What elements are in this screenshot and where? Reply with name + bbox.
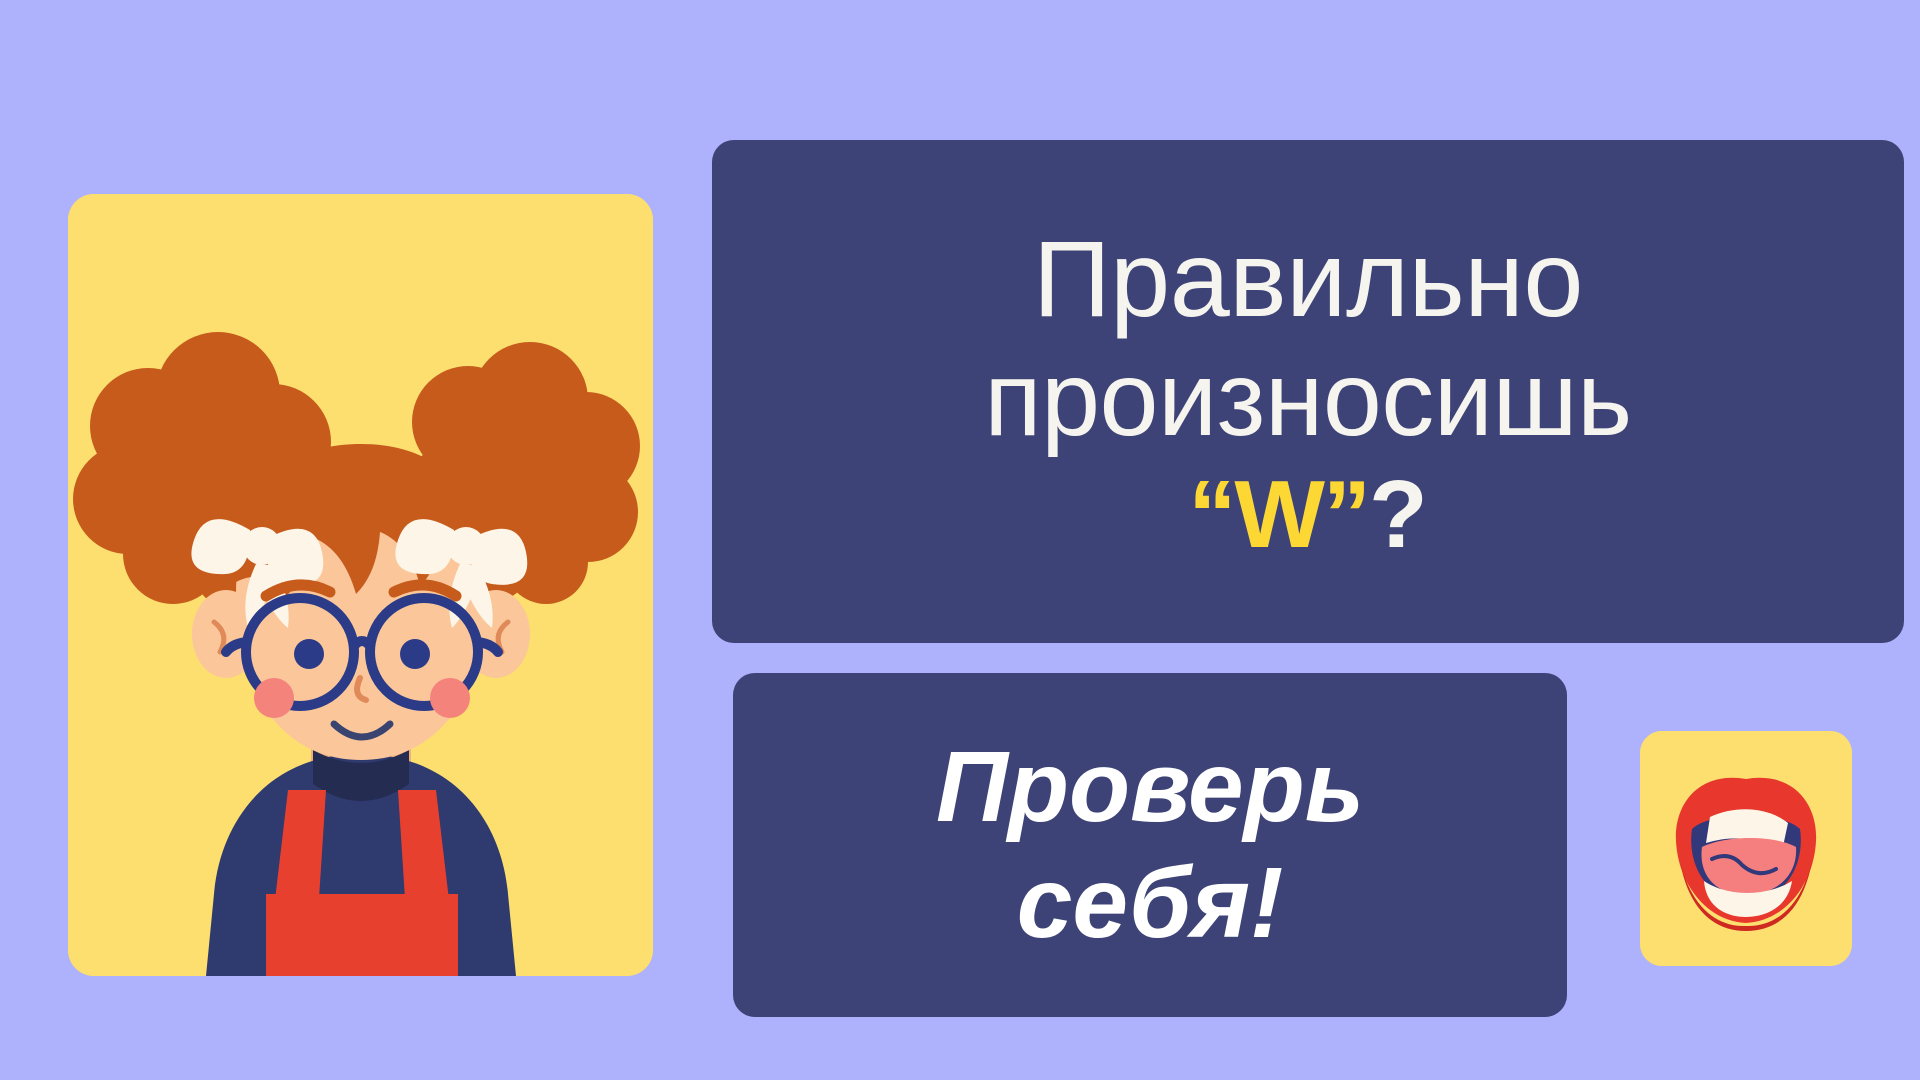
poster-canvas: Правильно произносишь “W”? Проверь себя! xyxy=(0,0,1920,1080)
question-line-1: Правильно xyxy=(1033,218,1583,340)
question-line-3: “W”? xyxy=(1188,462,1427,568)
girl-illustration-card xyxy=(68,194,653,976)
quote-open: “ xyxy=(1188,461,1234,568)
check-line-1: Проверь xyxy=(936,729,1364,845)
girl-illustration xyxy=(68,194,653,976)
left-cheek xyxy=(254,678,294,718)
left-eye xyxy=(294,639,324,669)
open-mouth-icon xyxy=(1640,731,1852,966)
check-yourself-card: Проверь себя! xyxy=(733,673,1567,1017)
quote-close: ” xyxy=(1323,461,1369,568)
question-mark: ? xyxy=(1369,461,1428,568)
letter-w: W xyxy=(1234,461,1323,568)
right-eye xyxy=(400,639,430,669)
check-line-2: себя! xyxy=(1017,845,1284,961)
right-cheek xyxy=(430,678,470,718)
question-card: Правильно произносишь “W”? xyxy=(712,140,1904,643)
question-line-2: произносишь xyxy=(984,340,1632,460)
overall-bib xyxy=(266,894,458,976)
mouth-icon-card xyxy=(1640,731,1852,966)
